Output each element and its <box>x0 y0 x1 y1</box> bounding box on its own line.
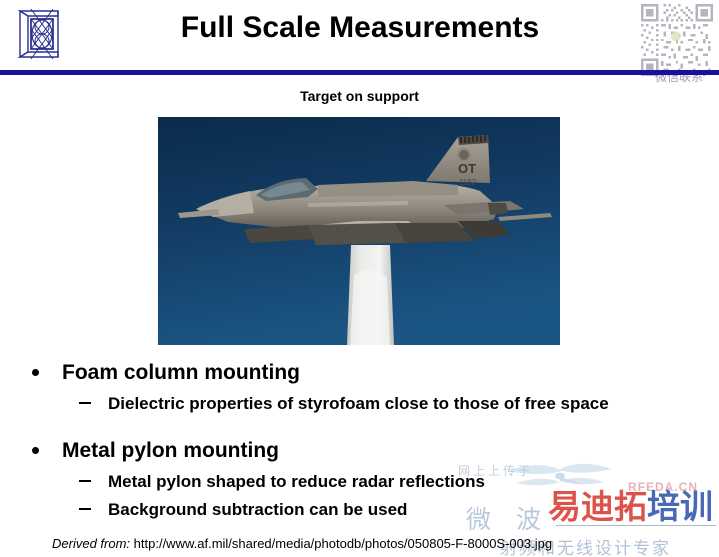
dash-icon <box>79 402 91 404</box>
svg-text:1182: 1182 <box>459 178 477 187</box>
page-title: Full Scale Measurements <box>90 8 630 48</box>
dash-icon <box>79 480 91 482</box>
dash-icon <box>79 508 91 510</box>
bullet-metal-pylon-mounting: Metal pylon mounting <box>0 436 719 466</box>
content-bullets: Foam column mounting Dielectric properti… <box>0 358 719 524</box>
target-on-support-photo: OT 1182 <box>158 117 560 345</box>
bullet-foam-column-mounting: Foam column mounting <box>0 358 719 388</box>
sub-bullet-label: Background subtraction can be used <box>108 500 407 519</box>
source-url[interactable]: http://www.af.mil/shared/media/photodb/p… <box>134 536 552 551</box>
slide-root: Full Scale Measurements <box>0 0 719 557</box>
bullet-dot-icon <box>32 369 39 376</box>
watermark-underline <box>556 525 716 526</box>
sub-bullet-dielectric-properties: Dielectric properties of styrofoam close… <box>0 390 719 418</box>
bullet-dot-icon <box>32 447 39 454</box>
derived-from-label: Derived from: <box>52 536 130 551</box>
slide-header: Full Scale Measurements <box>0 0 719 70</box>
svg-text:OT: OT <box>458 161 476 176</box>
picture-caption: Target on support <box>0 88 719 104</box>
sub-bullet-label: Dielectric properties of styrofoam close… <box>108 394 609 413</box>
bullet-spacer <box>0 418 719 436</box>
sub-bullet-metal-pylon-shaped: Metal pylon shaped to reduce radar refle… <box>0 468 719 496</box>
header-divider <box>0 70 719 75</box>
sub-bullet-background-subtraction: Background subtraction can be used <box>0 496 719 524</box>
sub-bullet-label: Metal pylon shaped to reduce radar refle… <box>108 472 485 491</box>
qr-code-icon <box>641 4 717 80</box>
source-footer: Derived from: http://www.af.mil/shared/m… <box>52 536 712 551</box>
bullet-label: Foam column mounting <box>62 361 300 384</box>
institution-emblem-icon <box>14 7 64 60</box>
bullet-label: Metal pylon mounting <box>62 439 279 462</box>
